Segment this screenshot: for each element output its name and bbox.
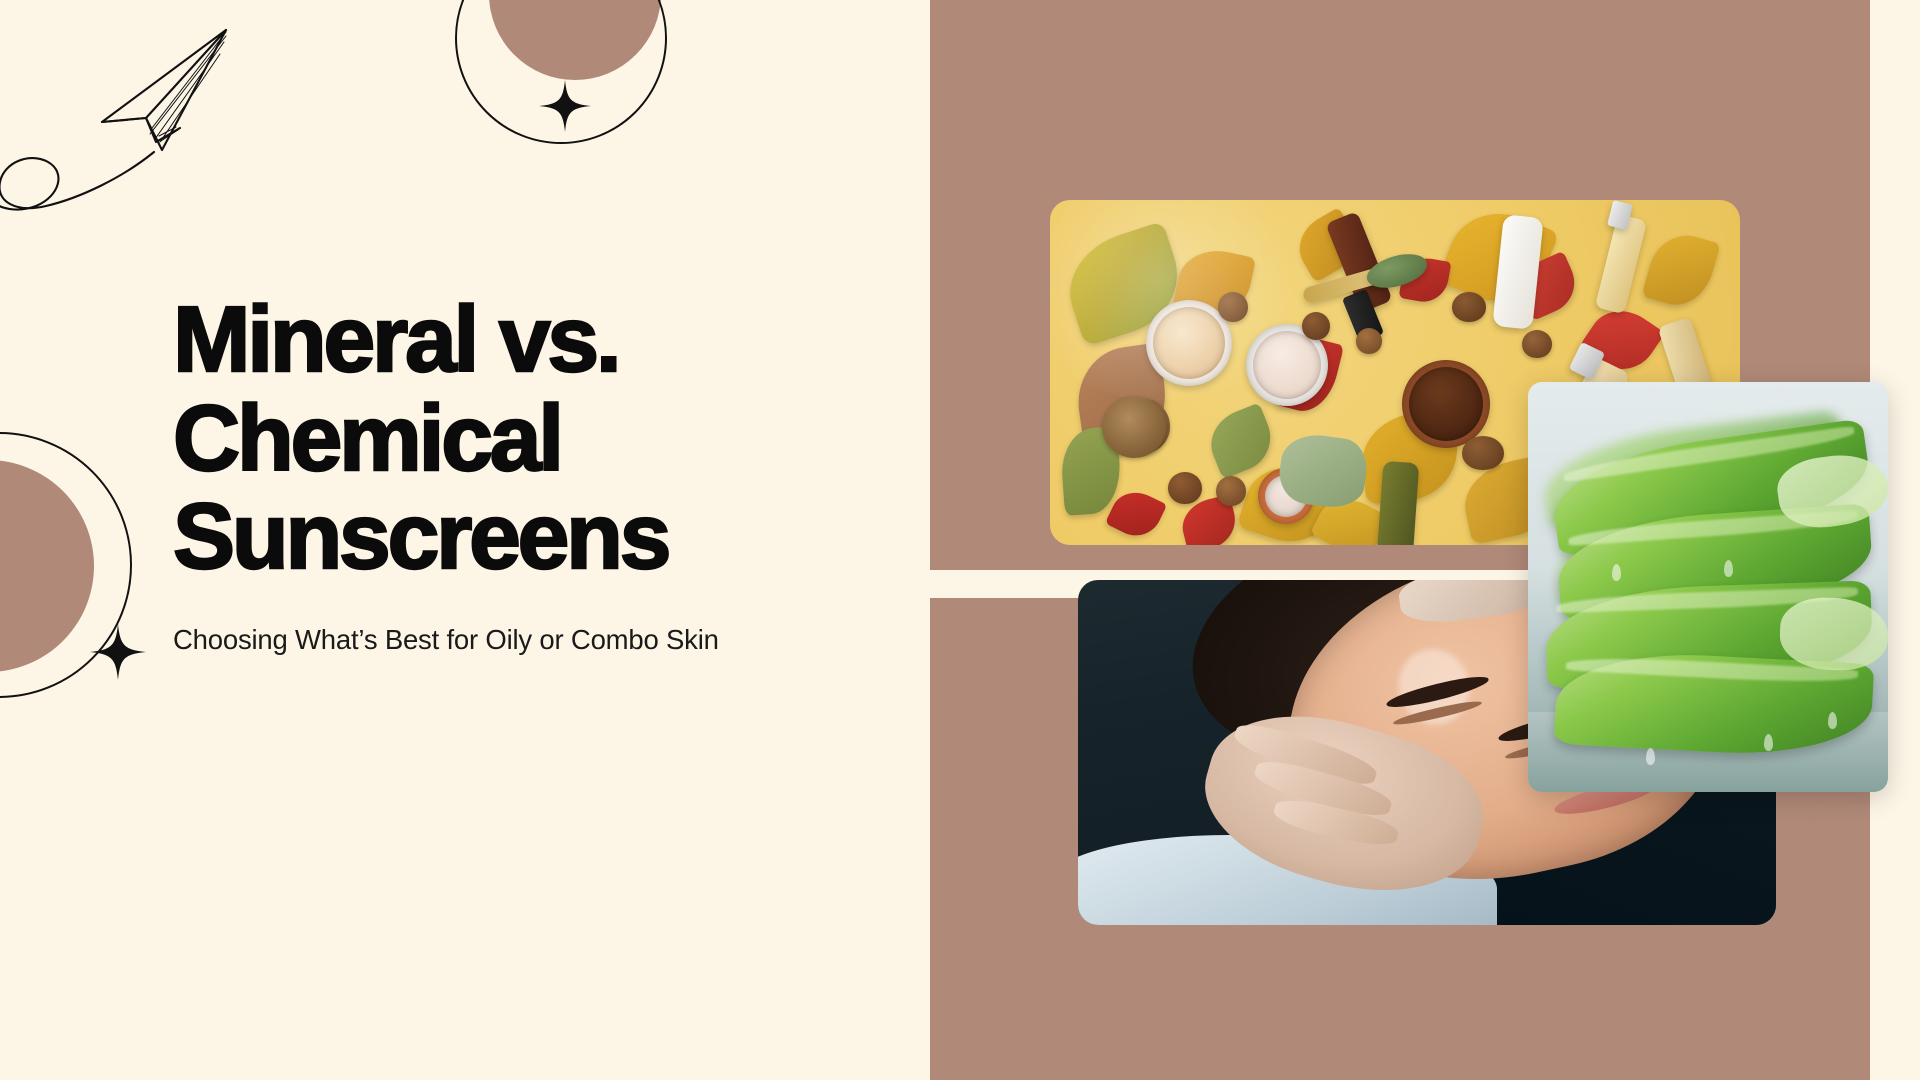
brown-circle-decor [0,460,94,672]
sparkle-icon [90,624,146,680]
page-subtitle: Choosing What’s Best for Oily or Combo S… [173,620,873,659]
outline-ring-decor [455,0,667,144]
aloe-vera-photo [1528,382,1888,792]
sparkle-icon [539,80,591,132]
title-line-2: Chemical [173,386,561,490]
slide-canvas: Mineral vs. Chemical Sunscreens Choosing… [0,0,1920,1080]
page-title: Mineral vs. Chemical Sunscreens [173,290,913,586]
left-circle-cluster [0,432,172,722]
headline-block: Mineral vs. Chemical Sunscreens Choosing… [173,290,913,659]
paper-plane-sketch [0,10,274,220]
outline-ring-decor [0,432,132,698]
brown-circle-decor [489,0,661,80]
title-line-3: Sunscreens [173,484,668,588]
title-line-1: Mineral vs. [173,287,619,391]
top-circle-cluster [455,0,685,138]
